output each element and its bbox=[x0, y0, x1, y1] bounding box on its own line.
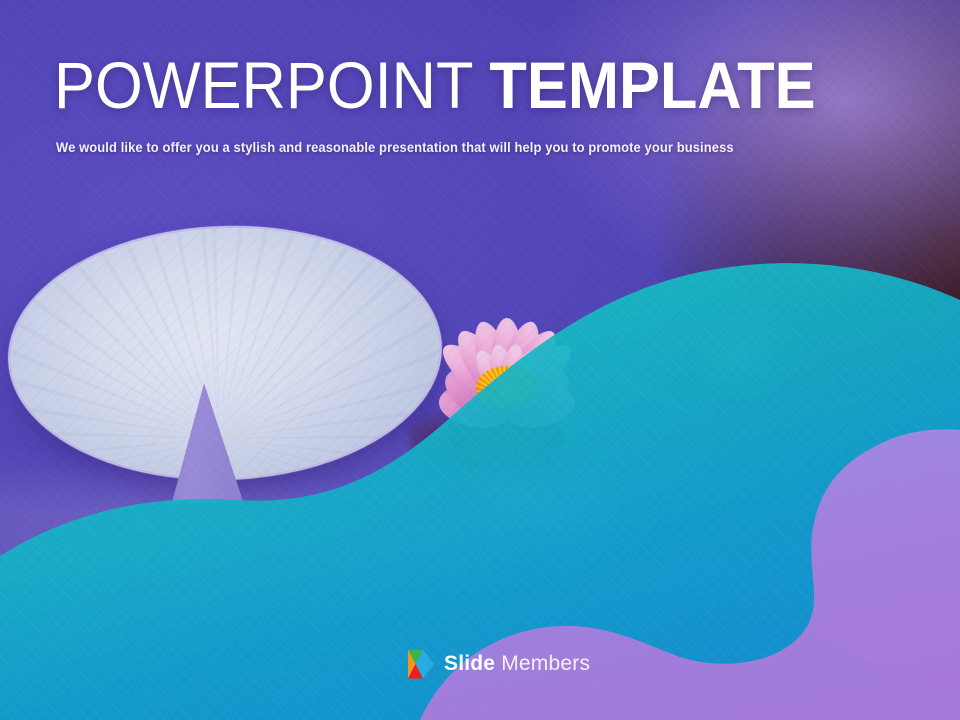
slide-members-wordmark: Slide Members bbox=[444, 652, 590, 676]
title-bold-part: TEMPLATE bbox=[489, 48, 815, 122]
presentation-slide: POWERPOINT TEMPLATE We would like to off… bbox=[0, 0, 960, 720]
title-light-part: POWERPOINT bbox=[54, 48, 472, 122]
brand-light: Members bbox=[495, 652, 590, 675]
page-subtitle: We would like to offer you a stylish and… bbox=[56, 140, 734, 155]
page-title: POWERPOINT TEMPLATE bbox=[54, 52, 816, 118]
brand-bold: Slide bbox=[444, 652, 495, 675]
slide-members-play-triangle-logo-icon bbox=[406, 648, 436, 680]
slide-members-logo[interactable]: Slide Members bbox=[406, 648, 590, 680]
